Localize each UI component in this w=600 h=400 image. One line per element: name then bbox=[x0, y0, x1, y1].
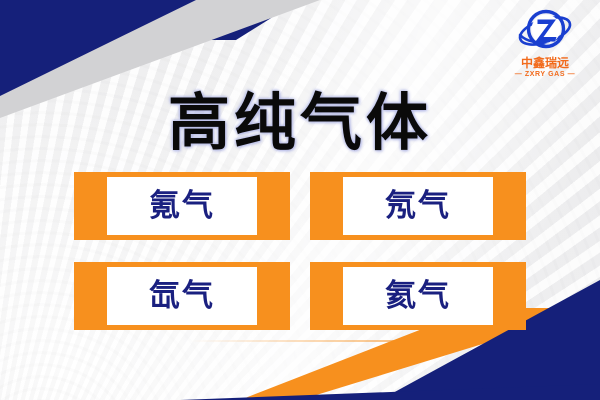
gas-card-neon[interactable]: 氖气 bbox=[310, 172, 526, 240]
gas-card-inner-panel: 氙气 bbox=[107, 267, 257, 325]
gas-card-inner-panel: 氪气 bbox=[107, 177, 257, 235]
company-logo[interactable]: 中鑫瑞远 — ZXRY GAS — bbox=[502, 6, 588, 78]
page-title: 高纯气体 bbox=[0, 72, 600, 162]
gas-card-krypton[interactable]: 氪气 bbox=[74, 172, 290, 240]
gas-card-inner-panel: 氦气 bbox=[343, 267, 493, 325]
gas-list: 氪气 氖气 氙气 氦气 bbox=[74, 172, 526, 330]
gas-card-helium[interactable]: 氦气 bbox=[310, 262, 526, 330]
logo-company-name-cn: 中鑫瑞远 bbox=[502, 57, 588, 69]
gas-card-label: 氙气 bbox=[149, 281, 215, 312]
poster-canvas: 中鑫瑞远 — ZXRY GAS — 高纯气体 氪气 氖气 氙气 氦气 bbox=[0, 0, 600, 400]
gas-card-xenon[interactable]: 氙气 bbox=[74, 262, 290, 330]
gas-card-inner-panel: 氖气 bbox=[343, 177, 493, 235]
gas-card-label: 氦气 bbox=[385, 281, 451, 312]
gas-card-label: 氖气 bbox=[385, 191, 451, 222]
logo-planet-z-icon bbox=[517, 6, 573, 56]
gas-card-label: 氪气 bbox=[149, 191, 215, 222]
